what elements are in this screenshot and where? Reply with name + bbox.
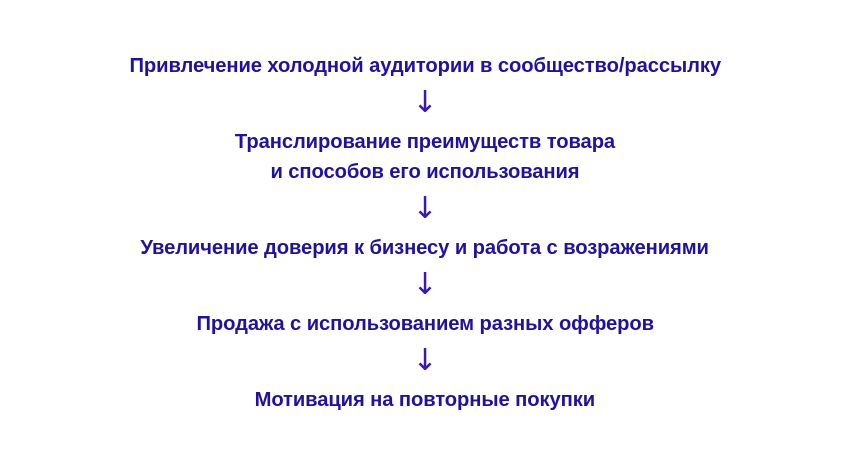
- flow-node-1: Привлечение холодной аудитории в сообщес…: [125, 51, 726, 81]
- flowchart-container: Привлечение холодной аудитории в сообщес…: [0, 0, 850, 460]
- flow-step-label-2: Транслирование преимуществ товара и спос…: [235, 127, 615, 187]
- flow-step-label-3: Увеличение доверия к бизнесу и работа с …: [141, 233, 710, 263]
- flow-node-5: Мотивация на повторные покупки: [252, 385, 598, 415]
- flow-step-label-5: Мотивация на повторные покупки: [255, 385, 595, 415]
- arrow-down-icon-1: ↓: [412, 88, 437, 118]
- flow-step-label-1: Привлечение холодной аудитории в сообщес…: [129, 51, 721, 81]
- flow-node-4: Продажа с использованием разных офферов: [193, 309, 657, 339]
- flow-node-3: Увеличение доверия к бизнесу и работа с …: [136, 233, 713, 263]
- arrow-down-icon-4: ↓: [412, 346, 437, 376]
- arrow-down-icon-2: ↓: [412, 194, 437, 224]
- flow-node-2: Транслирование преимуществ товара и спос…: [232, 127, 618, 187]
- flow-step-label-4: Продажа с использованием разных офферов: [196, 309, 654, 339]
- arrow-down-icon-3: ↓: [412, 270, 437, 300]
